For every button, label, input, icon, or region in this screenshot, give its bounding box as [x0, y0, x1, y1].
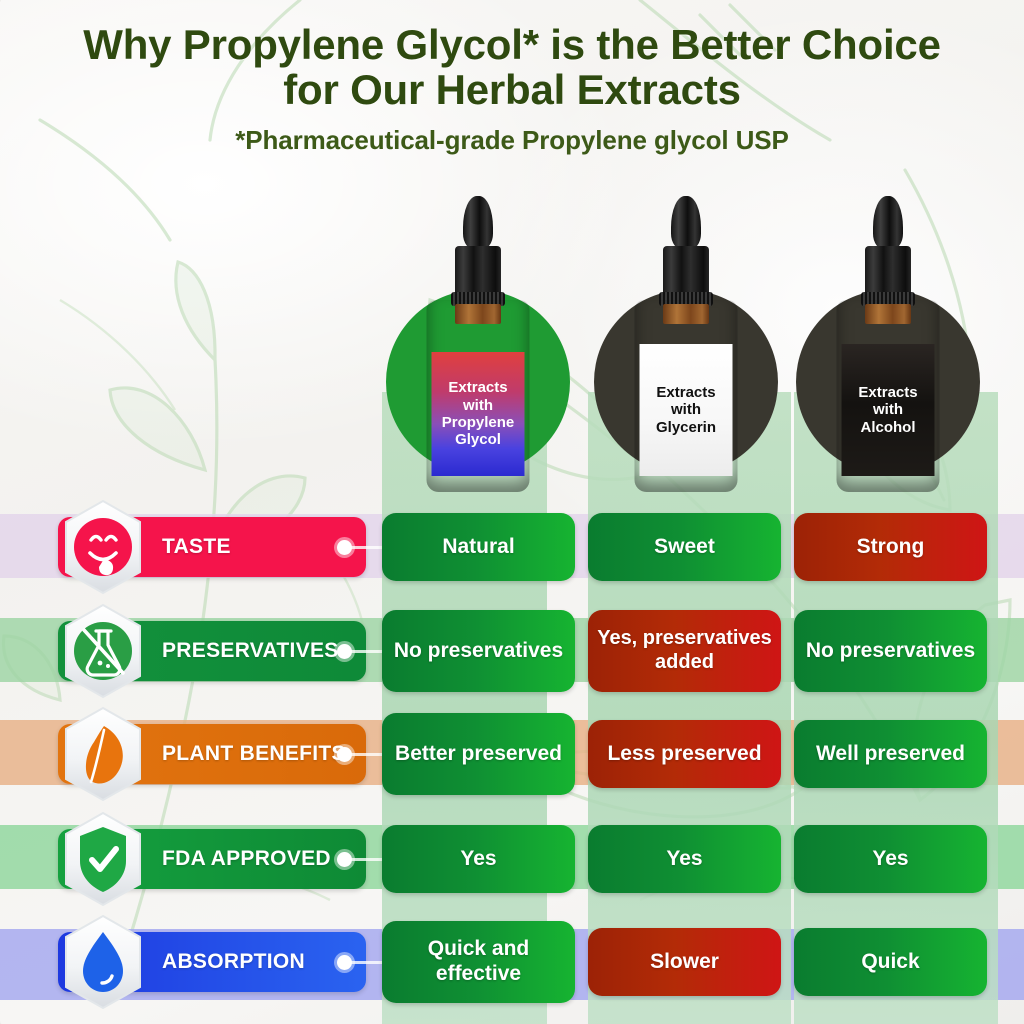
cell-plant-benefits-propylene-glycol: Better preserved	[382, 713, 575, 795]
row-label-text-absorption: ABSORPTION	[162, 950, 305, 974]
cell-taste-alcohol: Strong	[794, 513, 987, 581]
bottle-label-line-4-propylene-glycol: Glycol	[442, 431, 515, 448]
cell-taste-propylene-glycol: Natural	[382, 513, 575, 581]
cell-taste-glycerin: Sweet	[588, 513, 781, 581]
cell-plant-benefits-alcohol: Well preserved	[794, 720, 987, 788]
bottle-alcohol: ExtractswithAlcohol	[778, 180, 998, 510]
bottle-label-line-1-glycerin: Extracts	[656, 384, 716, 401]
shield-check-icon	[60, 811, 146, 907]
row-label-text-taste: TASTE	[162, 535, 231, 559]
bottle-glycerin: ExtractswithGlycerin	[576, 180, 796, 510]
bottle-label-line-1-propylene-glycol: Extracts	[442, 379, 515, 396]
row-connector-dot-plant-benefits	[337, 747, 352, 762]
bottle-label-glycerin: ExtractswithGlycerin	[640, 344, 733, 476]
bottle-label-line-1-alcohol: Extracts	[858, 384, 917, 401]
cell-absorption-alcohol: Quick	[794, 928, 987, 996]
cell-preservatives-glycerin: Yes, preservatives added	[588, 610, 781, 692]
page-title-line-2: for Our Herbal Extracts	[0, 67, 1024, 112]
row-label-text-preservatives: PRESERVATIVES	[162, 639, 339, 663]
bottle-propylene-glycol: ExtractswithPropyleneGlycol	[368, 180, 588, 510]
cell-preservatives-propylene-glycol: No preservatives	[382, 610, 575, 692]
tongue-out-smiley-icon	[60, 499, 146, 595]
page-subtitle: *Pharmaceutical-grade Propylene glycol U…	[0, 125, 1024, 156]
row-label-text-fda-approved: FDA APPROVED	[162, 847, 331, 871]
header: Why Propylene Glycol* is the Better Choi…	[0, 0, 1024, 156]
row-connector-dot-fda-approved	[337, 852, 352, 867]
page-title-line-1: Why Propylene Glycol* is the Better Choi…	[0, 22, 1024, 67]
page-title: Why Propylene Glycol* is the Better Choi…	[0, 0, 1024, 113]
dropper-bulb-propylene-glycol	[463, 196, 493, 250]
leaf-icon	[60, 706, 146, 802]
bottle-cap-propylene-glycol	[455, 246, 501, 298]
bottle-cap-glycerin	[663, 246, 709, 298]
water-drop-icon	[60, 914, 146, 1010]
row-label-text-plant-benefits: PLANT BENEFITS	[162, 742, 346, 766]
bottle-label-line-2-glycerin: with	[656, 401, 716, 418]
row-connector-dot-absorption	[337, 955, 352, 970]
row-connector-dot-taste	[337, 540, 352, 555]
cell-preservatives-alcohol: No preservatives	[794, 610, 987, 692]
no-flask-icon	[60, 603, 146, 699]
bottle-label-alcohol: ExtractswithAlcohol	[842, 344, 935, 476]
cell-fda-approved-alcohol: Yes	[794, 825, 987, 893]
cell-plant-benefits-glycerin: Less preserved	[588, 720, 781, 788]
dropper-bulb-alcohol	[873, 196, 903, 250]
bottle-label-line-3-alcohol: Alcohol	[858, 419, 917, 436]
bottle-label-line-2-propylene-glycol: with	[442, 397, 515, 414]
cell-fda-approved-propylene-glycol: Yes	[382, 825, 575, 893]
bottle-label-line-3-propylene-glycol: Propylene	[442, 414, 515, 431]
bottle-label-line-2-alcohol: with	[858, 401, 917, 418]
cell-absorption-propylene-glycol: Quick and effective	[382, 921, 575, 1003]
cell-absorption-glycerin: Slower	[588, 928, 781, 996]
bottle-label-line-3-glycerin: Glycerin	[656, 419, 716, 436]
row-connector-dot-preservatives	[337, 644, 352, 659]
bottle-label-propylene-glycol: ExtractswithPropyleneGlycol	[432, 352, 525, 476]
cell-fda-approved-glycerin: Yes	[588, 825, 781, 893]
bottle-cap-alcohol	[865, 246, 911, 298]
dropper-bulb-glycerin	[671, 196, 701, 250]
